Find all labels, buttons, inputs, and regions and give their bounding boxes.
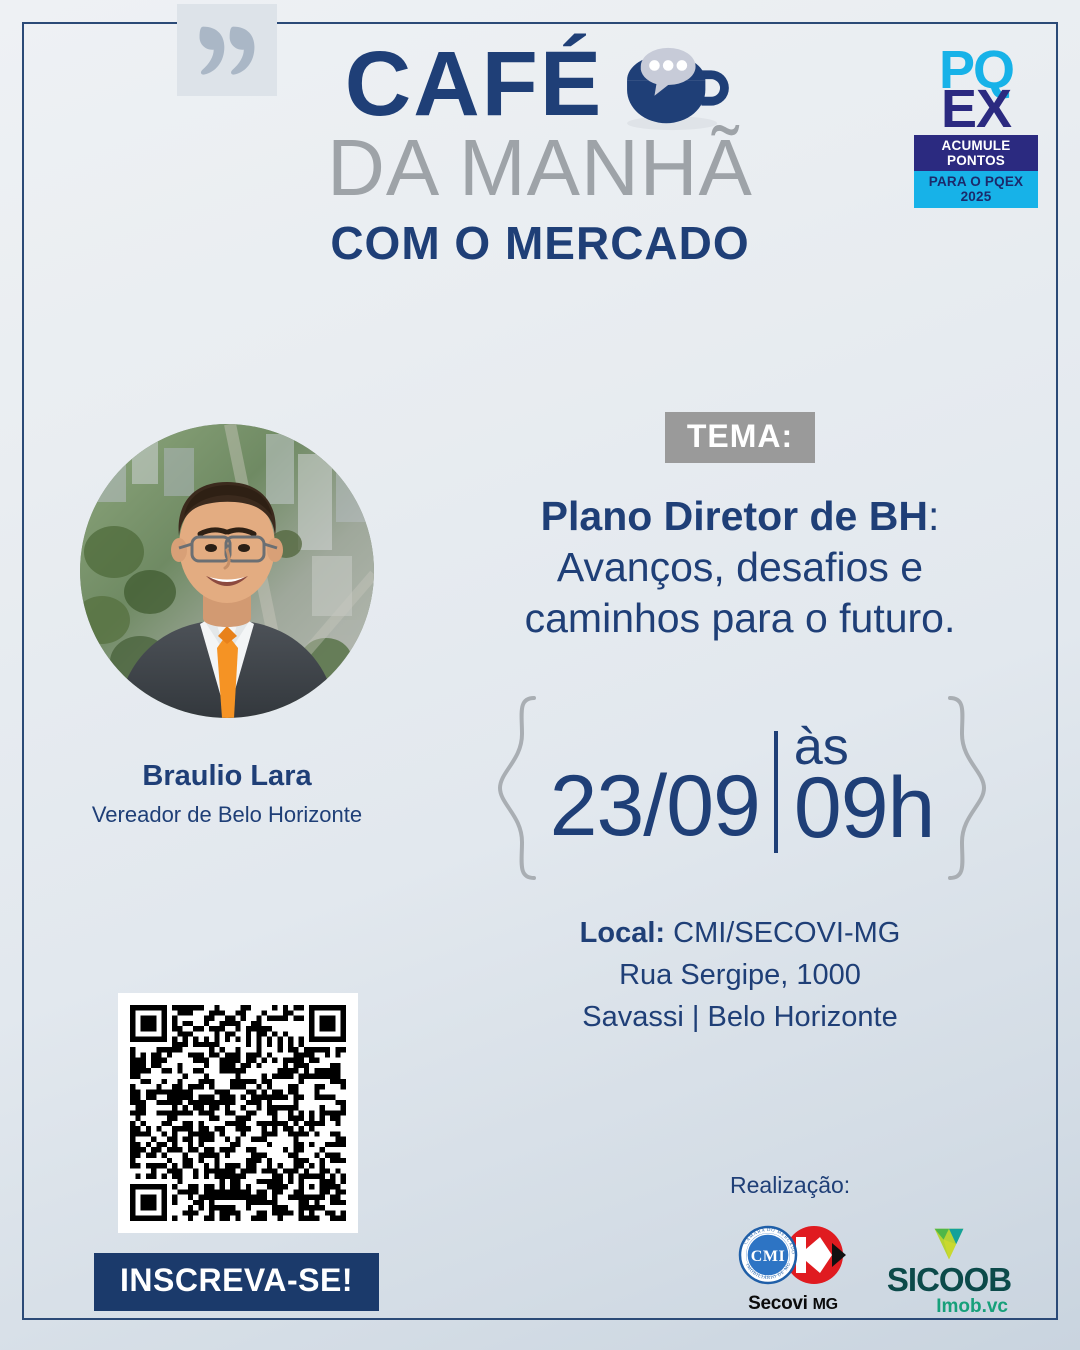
status-badge: TEMA: — [665, 412, 815, 463]
datetime-block: 23/09 às 09h — [452, 688, 1032, 888]
theme-block: TEMA: Plano Diretor de BH: Avanços, desa… — [450, 412, 1030, 643]
theme-text: Plano Diretor de BH: Avanços, desafios e… — [450, 491, 1030, 643]
svg-text:CMI: CMI — [751, 1248, 785, 1265]
subscribe-button[interactable]: INSCREVA-SE! — [94, 1253, 379, 1311]
brace-right-icon — [944, 694, 988, 882]
speaker-name: Braulio Lara — [62, 760, 392, 793]
coffee-cup-speech-bubble-icon — [617, 41, 735, 133]
location-label: Local: — [580, 917, 665, 949]
location-street: Rua Sergipe, 1000 — [450, 954, 1030, 996]
pqex-badge: PQ EX ACUMULE PONTOS PARA O PQEX 2025 — [914, 48, 1038, 208]
event-date: 23/09 — [550, 763, 774, 851]
realization-block: Realização: CMI CÂMARA DO MERCADO — [700, 1172, 1040, 1316]
location-venue: CMI/SECOVI-MG — [673, 917, 900, 949]
secovi-state: MG — [813, 1296, 838, 1313]
cmi-secovi-logo: CMI CÂMARA DO MERCADO IMOBILIÁRIO DE MG … — [728, 1225, 858, 1315]
speaker-role: Vereador de Belo Horizonte — [62, 802, 392, 828]
theme-title-rest: : — [928, 493, 939, 539]
location-block: Local: CMI/SECOVI-MG Rua Sergipe, 1000 S… — [450, 912, 1030, 1038]
pqex-mark-bottom: EX — [914, 88, 1038, 131]
avatar — [80, 424, 374, 718]
sicoob-logo: SICOOB Imob.vc — [886, 1225, 1012, 1316]
theme-title-bold: Plano Diretor de BH — [541, 493, 928, 539]
pqex-band-top: ACUMULE PONTOS — [914, 135, 1038, 171]
sicoob-sub-wordmark: Imob.vc — [886, 1297, 1012, 1316]
event-time: 09h — [794, 765, 935, 851]
title-line-3: COM O MERCADO — [0, 216, 1080, 270]
sponsor-logos: CMI CÂMARA DO MERCADO IMOBILIÁRIO DE MG … — [700, 1225, 1040, 1316]
location-district: Savassi | Belo Horizonte — [450, 996, 1030, 1038]
qr-code-icon[interactable] — [118, 993, 358, 1233]
secovi-word: Secovi — [748, 1293, 807, 1314]
page-title: CAFÉ — [345, 38, 603, 132]
realization-label: Realização: — [700, 1172, 1040, 1199]
secovi-wordmark: Secovi MG — [728, 1293, 858, 1315]
theme-line-2: Avanços, desafios e — [450, 542, 1030, 593]
time-group: às 09h — [778, 725, 935, 852]
brace-left-icon — [496, 694, 540, 882]
theme-title-line: Plano Diretor de BH: — [450, 491, 1030, 542]
speaker-block: Braulio Lara Vereador de Belo Horizonte — [62, 424, 392, 828]
location-venue-line: Local: CMI/SECOVI-MG — [450, 912, 1030, 954]
pqex-band-bottom: PARA O PQEX 2025 — [914, 171, 1038, 208]
theme-line-3: caminhos para o futuro. — [450, 593, 1030, 644]
sicoob-wordmark: SICOOB — [886, 1263, 1012, 1296]
datetime-inner: 23/09 às 09h — [540, 725, 945, 852]
